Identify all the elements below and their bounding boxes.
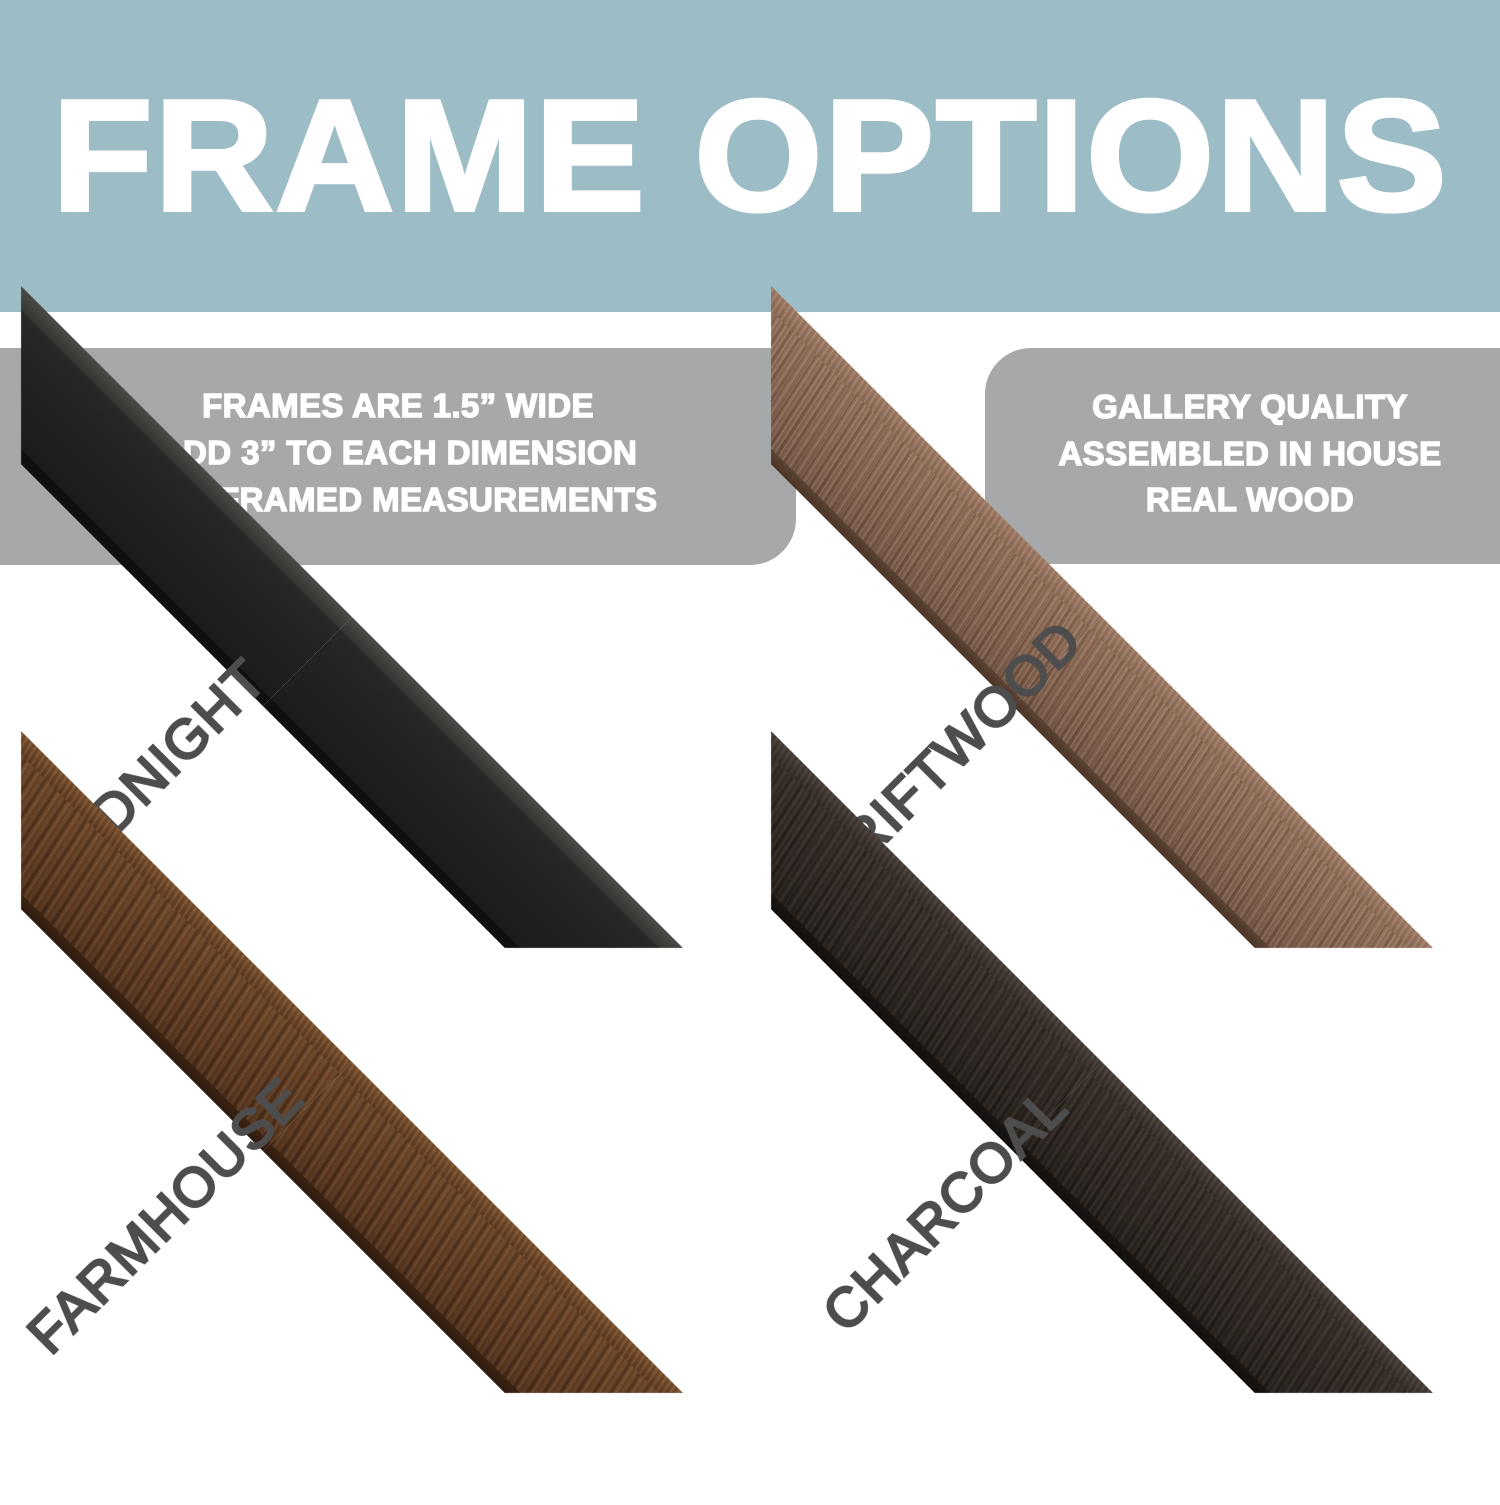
frame-corner-icon xyxy=(750,1035,1500,1435)
page-title: FRAME OPTIONS xyxy=(52,77,1448,235)
info-left-line-2: ADD 3” TO EACH DIMENSION xyxy=(159,430,637,477)
frame-leg-right xyxy=(263,617,683,1037)
frame-leg-right xyxy=(1013,1062,1433,1482)
info-left-line-1: FRAMES ARE 1.5” WIDE xyxy=(202,383,594,430)
frame-leg-right xyxy=(263,1062,683,1482)
info-right-line-1: GALLERY QUALITY xyxy=(1092,384,1408,431)
frame-leg-right xyxy=(1013,617,1433,1037)
info-right-line-3: REAL WOOD xyxy=(1146,477,1354,524)
header-banner: FRAME OPTIONS xyxy=(0,0,1500,312)
info-box-quality: GALLERY QUALITY ASSEMBLED IN HOUSE REAL … xyxy=(985,348,1500,564)
info-right-line-2: ASSEMBLED IN HOUSE xyxy=(1058,431,1441,478)
